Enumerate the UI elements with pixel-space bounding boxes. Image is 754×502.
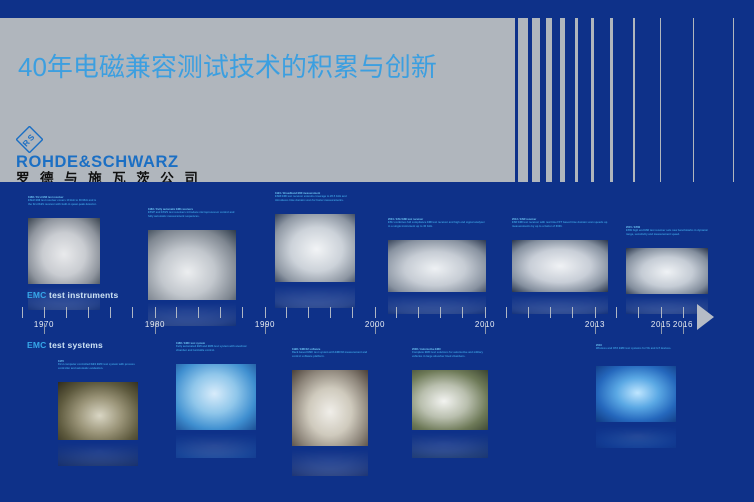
axis-tick-minor [396, 307, 397, 318]
system-photo [412, 370, 488, 430]
header-stripe [610, 18, 612, 182]
axis-tick-minor [352, 307, 353, 318]
header-stripe [532, 18, 540, 182]
system-item: 1988 / EMC test systemFully automated EM… [176, 342, 256, 458]
system-item: 2008 / Automotive EMCComplete EMC test s… [412, 348, 488, 458]
system-item: 2016Wireless and OTA EMC test systems fo… [596, 344, 676, 448]
logo-chinese-name: 罗 德 与 施 瓦 茨 公 司 [16, 171, 201, 182]
caption-body: ESW high end EMI test receiver sets new … [626, 229, 708, 236]
axis-tick-minor [550, 307, 551, 318]
instrument-item: 2004 / ESU EMI test receiverESU combines… [388, 218, 486, 314]
instrument-photo-reflection [275, 282, 355, 308]
axis-tick-minor [462, 307, 463, 318]
header-stripe [591, 18, 594, 182]
rs-diamond-icon: R S [16, 126, 43, 153]
axis-year-label: 2016 [673, 318, 693, 331]
axis-year-label: 1980 [145, 318, 165, 331]
header-stripe [633, 18, 635, 182]
section-emc-word: EMC [27, 290, 47, 300]
axis-year-label: 1970 [34, 318, 54, 331]
rohde-schwarz-logo: R S ROHDE&SCHWARZ 罗 德 与 施 瓦 茨 公 司 [16, 126, 266, 182]
section-emc-word: EMC [27, 340, 47, 350]
caption-body: ESVP and ESVS test receivers introduce m… [148, 211, 236, 218]
axis-tick-minor [220, 307, 221, 318]
caption-body: ESH2 EMI test receiver covers 10 kHz to … [28, 199, 100, 206]
axis-tick-minor [440, 307, 441, 318]
axis-tick-minor [176, 307, 177, 318]
system-caption: 1976First computer controlled R&S EMC te… [58, 360, 138, 370]
axis-tick-minor [418, 307, 419, 318]
timeline-arrow-right-icon [697, 304, 714, 330]
axis-tick-minor [22, 307, 23, 318]
system-photo [292, 370, 368, 446]
instrument-photo [626, 248, 708, 294]
system-item: 1976First computer controlled R&S EMC te… [58, 360, 138, 466]
axis-year-label: 2000 [365, 318, 385, 331]
caption-body: Wireless and OTA EMC test systems for 5G… [596, 347, 676, 350]
axis-tick-minor [198, 307, 199, 318]
axis-year-label: 1990 [255, 318, 275, 331]
system-photo [596, 366, 676, 422]
instrument-caption: 1968 / First EMI test receiverESH2 EMI t… [28, 196, 100, 206]
caption-body: Complete EMC test solutions for automoti… [412, 351, 488, 358]
system-caption: 1998 / EMC32 softwareRack based EMC test… [292, 348, 368, 358]
caption-body: Fully automated EMI and EMS test system … [176, 345, 256, 352]
system-photo-reflection [412, 430, 488, 458]
system-photo [176, 364, 256, 430]
axis-tick-minor [506, 307, 507, 318]
instrument-photo [148, 230, 236, 300]
axis-tick-minor [528, 307, 529, 318]
header-stripe [560, 18, 565, 182]
instrument-caption: 2015 / ESWESW high end EMI test receiver… [626, 226, 708, 236]
axis-year-label: 2015 [651, 318, 671, 331]
system-photo-reflection [176, 430, 256, 458]
axis-tick-minor [616, 307, 617, 318]
instrument-photo [275, 214, 355, 282]
instrument-item: 1994 / Broadband EMI measurementESMI EMI… [275, 192, 355, 308]
header-stripe [660, 18, 661, 182]
page-header: 40年电磁兼容测试技术的积累与创新 R S ROHDE&SCHWARZ 罗 德 … [0, 0, 754, 182]
header-stripe [575, 18, 579, 182]
axis-tick-minor [308, 307, 309, 318]
instrument-photo [388, 240, 486, 292]
logo-wordmark: ROHDE&SCHWARZ [16, 154, 179, 171]
system-item: 1998 / EMC32 softwareRack based EMC test… [292, 348, 368, 476]
system-photo [58, 382, 138, 440]
header-stripe [546, 18, 552, 182]
header-panel: 40年电磁兼容测试技术的积累与创新 R S ROHDE&SCHWARZ 罗 德 … [0, 18, 502, 182]
instrument-caption: 1994 / Broadband EMI measurementESMI EMI… [275, 192, 355, 202]
caption-body: First computer controlled R&S EMC test s… [58, 363, 138, 370]
timeline-axis: 19701980199020002010201320152016 [0, 307, 754, 337]
section-label-emc-test-instruments: EMC test instruments [27, 290, 118, 300]
caption-body: ESMI EMI test receiver extends coverage … [275, 195, 355, 202]
instrument-photo [512, 240, 608, 292]
section-rest-word: test systems [47, 340, 103, 350]
timeline-canvas: 1968 / First EMI test receiverESH2 EMI t… [0, 182, 754, 502]
section-label-emc-test-systems: EMC test systems [27, 340, 103, 350]
system-photo-reflection [58, 440, 138, 466]
system-photo-reflection [292, 446, 368, 476]
system-photo-reflection [596, 422, 676, 448]
instrument-caption: 1983 / Fully automatic EMI receiversESVP… [148, 208, 236, 218]
caption-body: ESU combines full compliance EMI test re… [388, 221, 486, 228]
axis-year-label: 2010 [475, 318, 495, 331]
instrument-caption: 2013 / ESR receiverESR EMI test receiver… [512, 218, 608, 228]
section-rest-word: test instruments [47, 290, 119, 300]
header-stripe-pattern [502, 18, 754, 182]
axis-tick-minor [638, 307, 639, 318]
axis-tick-minor [132, 307, 133, 318]
axis-tick-minor [88, 307, 89, 318]
header-stripe [733, 18, 734, 182]
axis-tick-minor [110, 307, 111, 318]
system-caption: 2016Wireless and OTA EMC test systems fo… [596, 344, 676, 351]
page-title: 40年电磁兼容测试技术的积累与创新 [18, 52, 488, 82]
axis-tick-minor [66, 307, 67, 318]
axis-tick-minor [572, 307, 573, 318]
header-stripe [693, 18, 694, 182]
caption-body: Rack based EMC test system with EMC32 me… [292, 351, 368, 358]
instrument-item: 2013 / ESR receiverESR EMI test receiver… [512, 218, 608, 314]
axis-tick-minor [286, 307, 287, 318]
instrument-caption: 2004 / ESU EMI test receiverESU combines… [388, 218, 486, 228]
axis-tick-minor [330, 307, 331, 318]
header-stripe [518, 18, 528, 182]
axis-tick-minor [242, 307, 243, 318]
instrument-item: 2015 / ESWESW high end EMI test receiver… [626, 226, 708, 314]
header-stripe [502, 18, 515, 182]
instrument-photo [28, 218, 100, 284]
caption-body: ESR EMI test receiver with real time FFT… [512, 221, 608, 228]
system-caption: 2008 / Automotive EMCComplete EMC test s… [412, 348, 488, 358]
axis-year-label: 2013 [585, 318, 605, 331]
system-caption: 1988 / EMC test systemFully automated EM… [176, 342, 256, 352]
